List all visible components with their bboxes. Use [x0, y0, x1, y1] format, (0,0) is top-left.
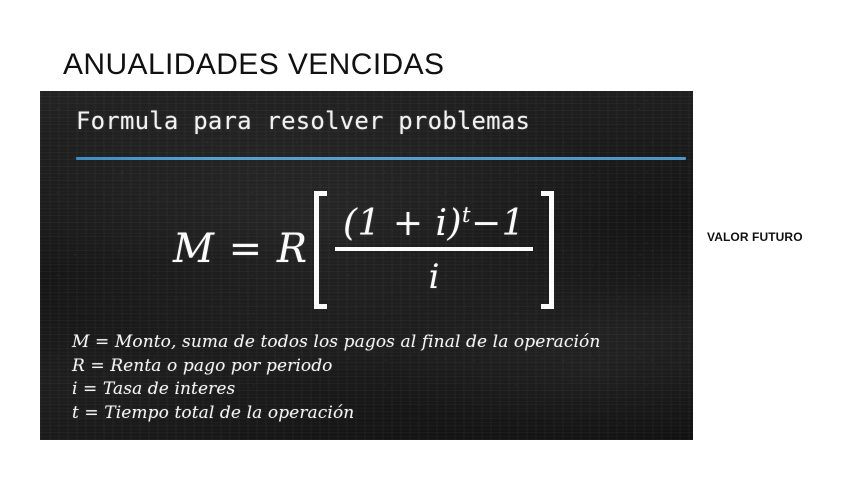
page-title: ANUALIDADES VENCIDAS	[63, 48, 444, 82]
formula-denominator: i	[429, 251, 440, 296]
formula-close-bracket	[541, 191, 554, 309]
formula-variable-definitions: M = Monto, suma de todos los pagos al fi…	[72, 331, 600, 425]
definition-line: i = Tasa de interes	[72, 378, 600, 402]
numerator-base: (1 + i)	[343, 203, 462, 244]
definition-line: R = Renta o pago por periodo	[72, 355, 600, 379]
formula-expression: M = R (1 + i)t−1 i	[40, 185, 693, 315]
formula-fraction: (1 + i)t−1 i	[335, 204, 533, 297]
formula-left-hand-side: M = R	[173, 229, 308, 271]
numerator-tail: −1	[471, 203, 525, 244]
definition-line: M = Monto, suma de todos los pagos al fi…	[72, 331, 600, 355]
valor-futuro-annotation: VALOR FUTURO	[707, 230, 803, 244]
numerator-exponent: t	[462, 203, 471, 227]
definition-line: t = Tiempo total de la operación	[72, 402, 600, 426]
heading-underline-rule	[76, 157, 686, 160]
chalkboard-image: Formula para resolver problemas M = R (1…	[40, 91, 693, 440]
formula-open-bracket	[314, 191, 327, 309]
formula-numerator: (1 + i)t−1	[335, 204, 533, 248]
chalkboard-heading: Formula para resolver problemas	[76, 107, 530, 135]
